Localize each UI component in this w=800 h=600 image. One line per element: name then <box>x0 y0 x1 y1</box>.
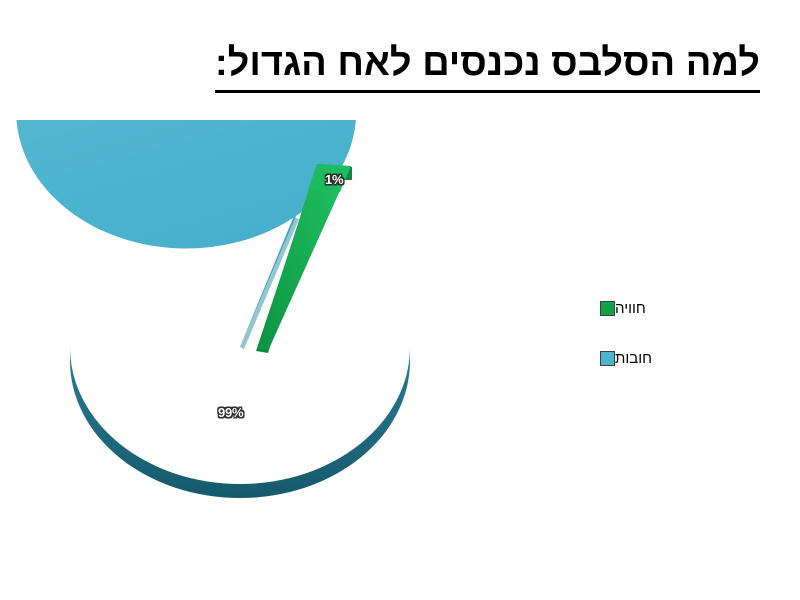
legend-label-chavaya: חוויה <box>615 300 646 317</box>
slide-canvas: למה הסלבס נכנסים לאח הגדול: <box>0 0 800 600</box>
pie-slice-side-chovot <box>70 347 410 498</box>
legend-swatch-icon-chavaya <box>600 301 615 316</box>
legend-item-chavaya[interactable]: חוויה <box>600 295 735 321</box>
chart-legend: חוויה חובות <box>600 295 735 395</box>
pie-data-label-chavaya: 1% <box>325 172 343 187</box>
legend-swatch-icon-chovot <box>600 351 615 366</box>
slide-title-block: למה הסלבס נכנסים לאח הגדול: <box>40 42 760 93</box>
legend-label-chovot: חובות <box>615 350 652 367</box>
pie-data-label-chovot: 99% <box>218 405 243 420</box>
legend-item-chovot[interactable]: חובות <box>600 345 735 371</box>
page-title: למה הסלבס נכנסים לאח הגדול: <box>215 42 760 93</box>
